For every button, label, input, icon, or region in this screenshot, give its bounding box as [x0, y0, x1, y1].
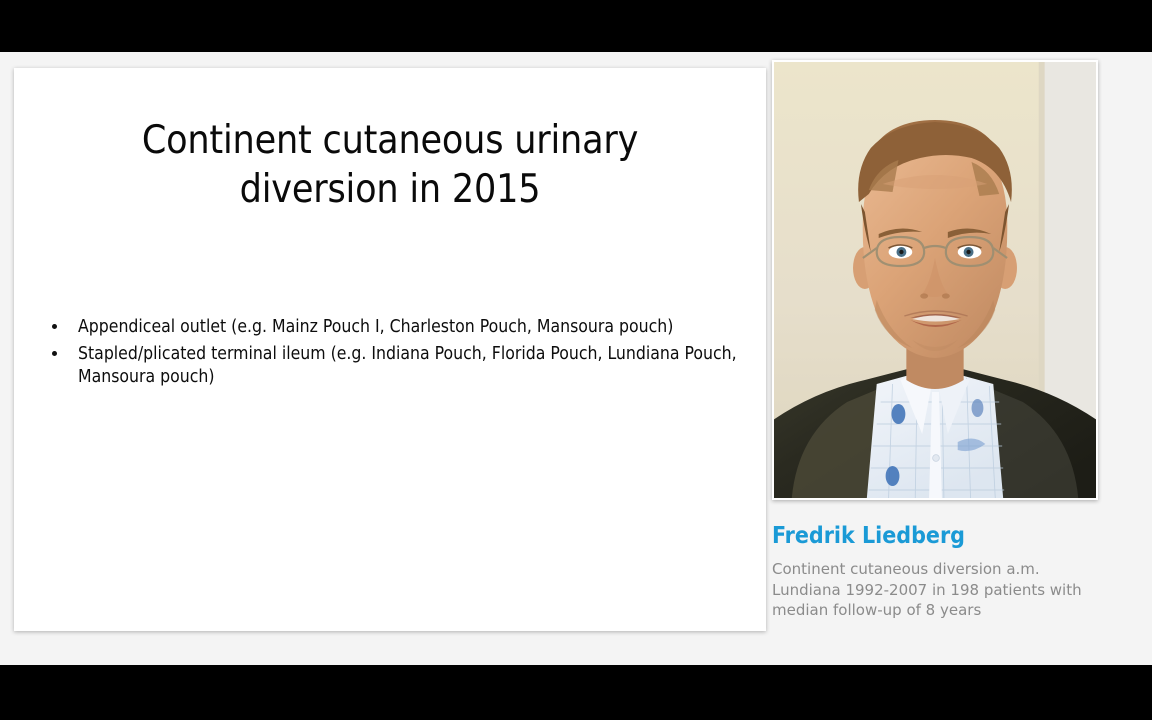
video-slide-viewer: Continent cutaneous urinary diversion in…: [0, 0, 1152, 720]
speaker-photo-frame: [772, 60, 1098, 500]
letterbox-top-bar: [0, 0, 1152, 52]
bullet-dot-icon: [52, 351, 57, 356]
presentation-slide[interactable]: Continent cutaneous urinary diversion in…: [14, 68, 766, 631]
letterbox-bottom-bar: [0, 665, 1152, 720]
speaker-description-line-2: Lundiana 1992-2007 in 198 patients with: [772, 580, 1094, 601]
bullet-text: Appendiceal outlet (e.g. Mainz Pouch I, …: [78, 317, 673, 337]
speaker-panel: Fredrik Liedberg Continent cutaneous div…: [772, 60, 1102, 660]
bullet-dot-icon: [52, 324, 57, 329]
slide-title: Continent cutaneous urinary diversion in…: [54, 116, 726, 214]
speaker-description-line-3: median follow-up of 8 years: [772, 600, 1094, 621]
slide-title-line-1: Continent cutaneous urinary: [54, 116, 726, 165]
list-item: Appendiceal outlet (e.g. Mainz Pouch I, …: [40, 316, 740, 339]
slide-bullet-list: Appendiceal outlet (e.g. Mainz Pouch I, …: [40, 316, 740, 393]
portrait-illustration: [774, 62, 1096, 498]
slide-title-line-2: diversion in 2015: [54, 165, 726, 214]
avatar: [774, 62, 1096, 498]
speaker-description-line-1: Continent cutaneous diversion a.m.: [772, 559, 1094, 580]
bullet-text: Stapled/plicated terminal ileum (e.g. In…: [78, 344, 737, 387]
slide-stage: Continent cutaneous urinary diversion in…: [0, 52, 1152, 665]
speaker-description: Continent cutaneous diversion a.m. Lundi…: [772, 559, 1094, 621]
speaker-name: Fredrik Liedberg: [772, 522, 1102, 550]
list-item: Stapled/plicated terminal ileum (e.g. In…: [40, 343, 740, 389]
